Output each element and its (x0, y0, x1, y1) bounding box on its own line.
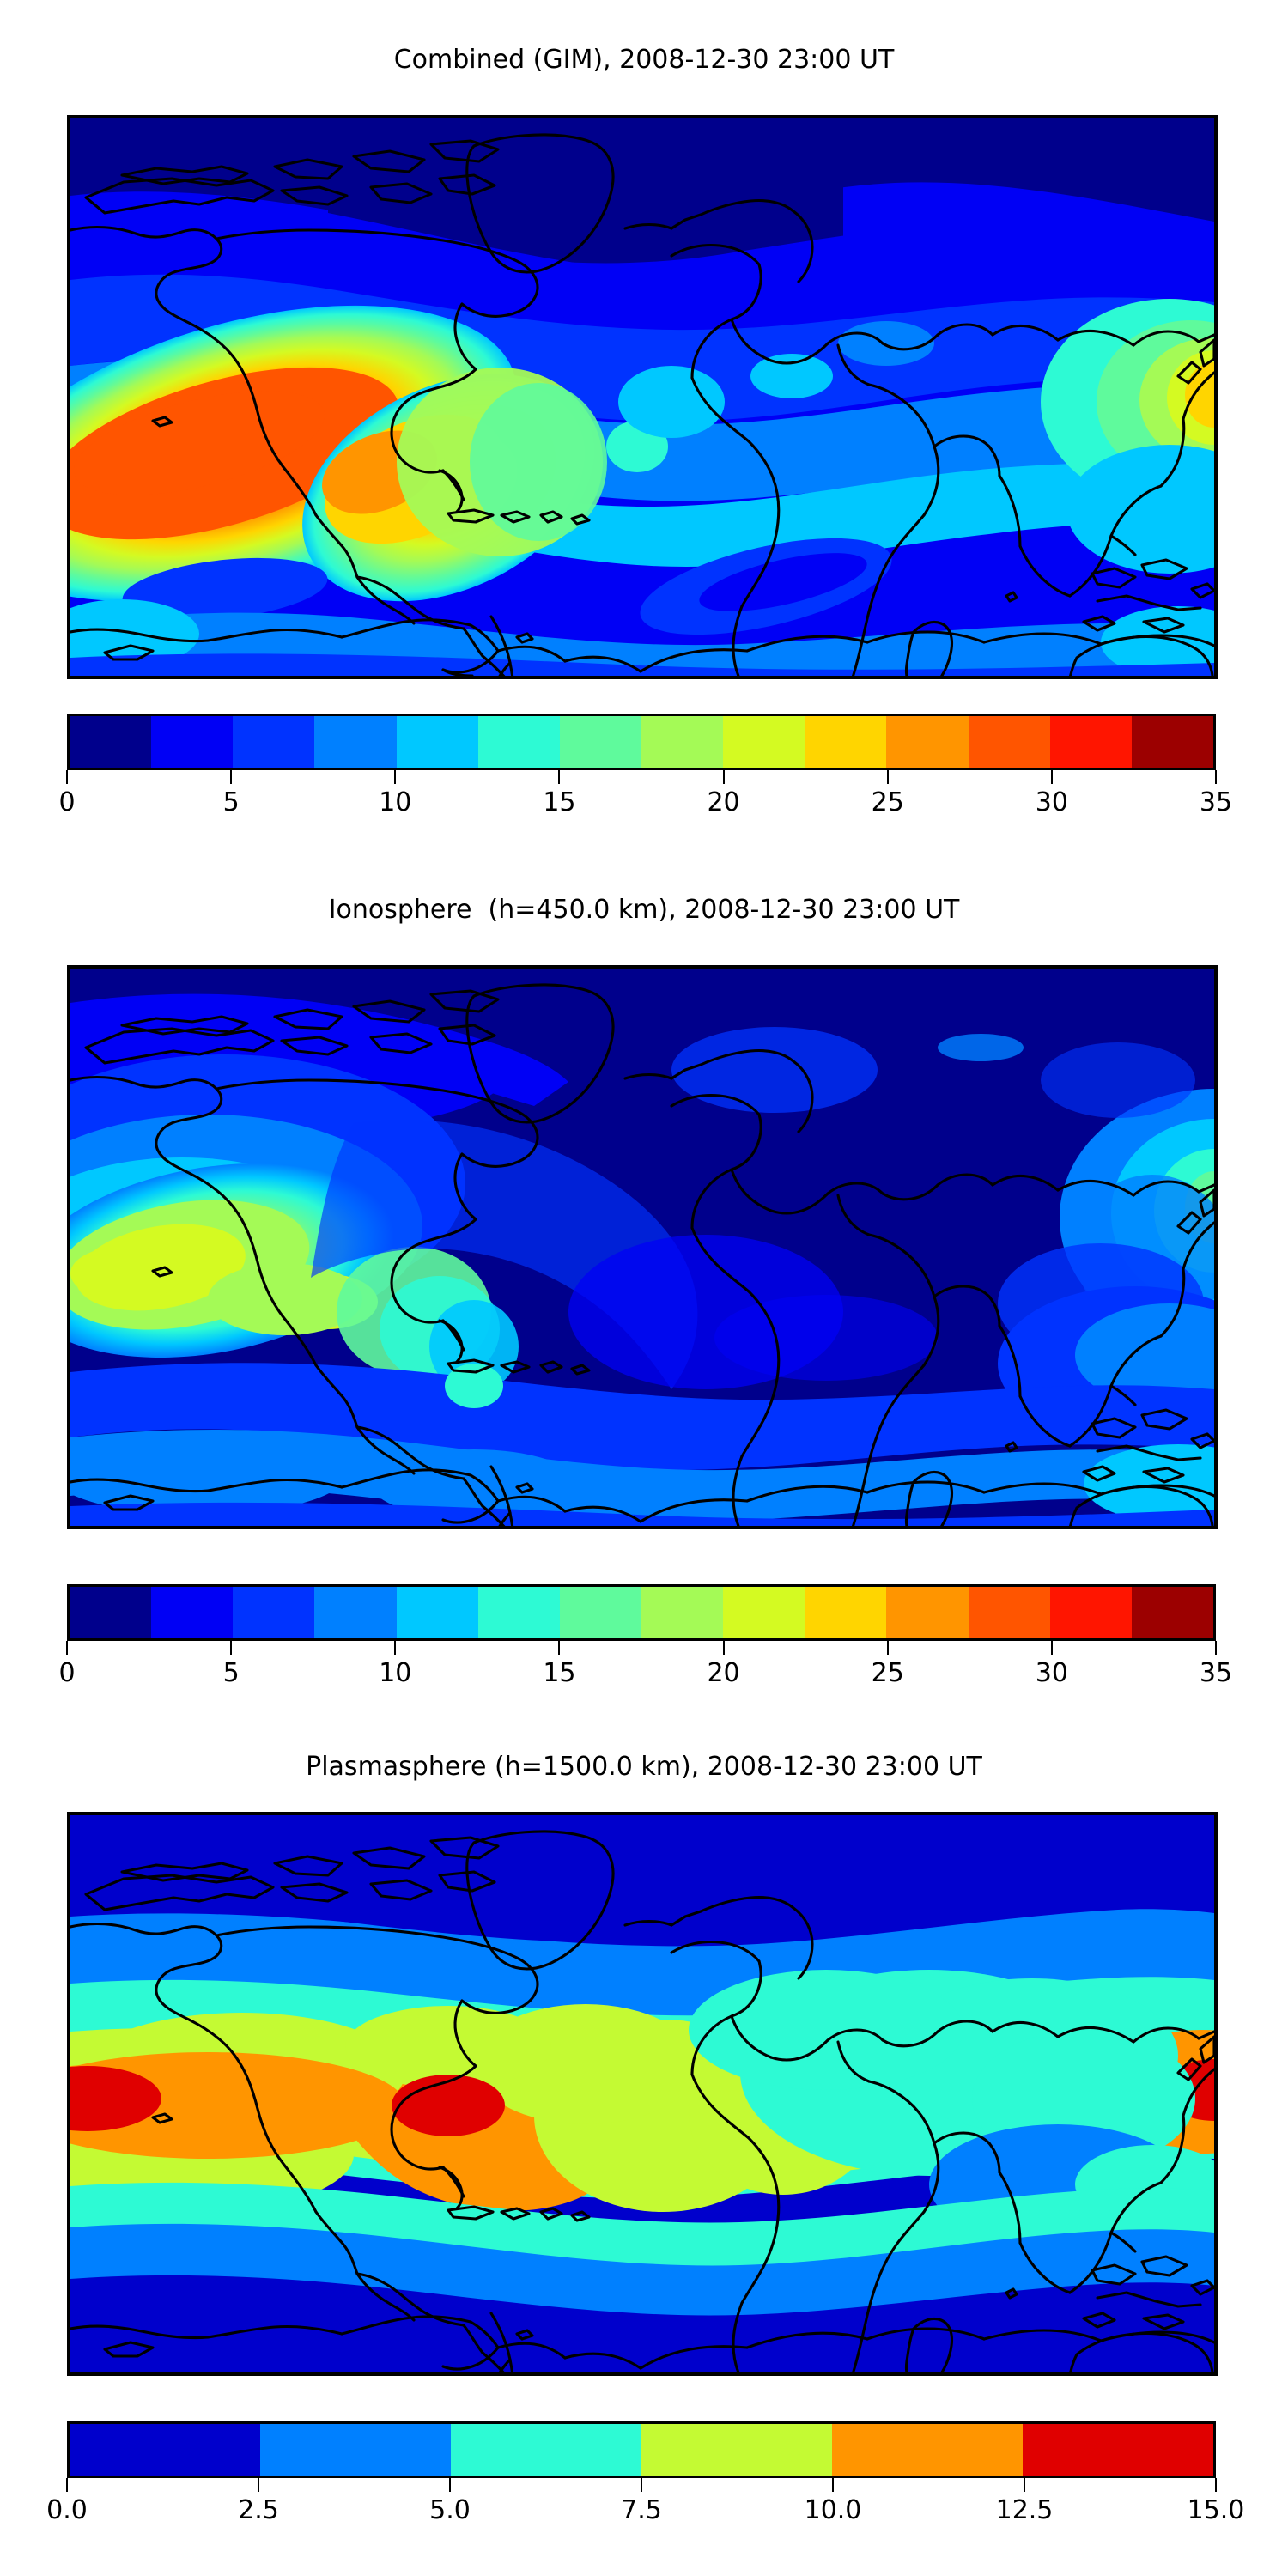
colorbar-band (151, 1587, 233, 1638)
colorbar-band (314, 1587, 396, 1638)
colorbar-axis-ionosphere: 05101520253035 (67, 1641, 1216, 1701)
map-svg-plasmasphere (70, 1815, 1214, 2372)
colorbar-tick (1051, 770, 1053, 784)
colorbar-tick (558, 770, 560, 784)
colorbar-band (560, 716, 641, 768)
colorbar-band (969, 716, 1050, 768)
colorbar-band (478, 716, 560, 768)
colorbar-tick-label: 12.5 (996, 2495, 1054, 2525)
colorbar-tick-label: 5 (223, 1658, 240, 1688)
colorbar-band (260, 2424, 451, 2476)
panel-ionosphere: Ionosphere (h=450.0 km), 2008-12-30 23:0… (0, 859, 1288, 1717)
colorbar-tick-label: 0 (58, 787, 75, 817)
map-svg-ionosphere (70, 969, 1214, 1526)
colorbar-band (805, 1587, 886, 1638)
colorbar-tick-label: 30 (1036, 1658, 1068, 1688)
colorbar-band (969, 1587, 1050, 1638)
colorbar-tick-label: 7.5 (621, 2495, 662, 2525)
colorbar-tick (887, 770, 889, 784)
colorbar-band (723, 716, 805, 768)
colorbar-tick-label: 30 (1036, 787, 1068, 817)
colorbar-tick-label: 20 (707, 787, 739, 817)
colorbar-tick-label: 2.5 (238, 2495, 279, 2525)
colorbar-band (886, 1587, 968, 1638)
colorbar-combined: 05101520253035 (67, 714, 1211, 834)
colorbar-band (886, 716, 968, 768)
colorbar-band (233, 716, 314, 768)
colorbar-tick-label: 35 (1200, 1658, 1232, 1688)
colorbar-tick (1024, 2478, 1025, 2492)
colorbar-tick (66, 2478, 68, 2492)
colorbar-tick-label: 5.0 (429, 2495, 471, 2525)
colorbar-band (151, 716, 233, 768)
colorbar-band (451, 2424, 641, 2476)
global-tec-map-plasmasphere (67, 1812, 1218, 2376)
colorbar-tick-label: 25 (872, 1658, 904, 1688)
figure-canvas: Combined (GIM), 2008-12-30 23:00 UT (0, 0, 1288, 2576)
colorbar-tick-label: 35 (1200, 787, 1232, 817)
colorbar-tick-label: 15.0 (1188, 2495, 1245, 2525)
colorbar-tick-label: 0.0 (46, 2495, 88, 2525)
panel-plasmasphere: Plasmasphere (h=1500.0 km), 2008-12-30 2… (0, 1717, 1288, 2576)
colorbar-band (1050, 716, 1132, 768)
colorbar-tick-label: 20 (707, 1658, 739, 1688)
colorbar-band (314, 716, 396, 768)
colorbar-band (723, 1587, 805, 1638)
panel-combined-gim: Combined (GIM), 2008-12-30 23:00 UT (0, 0, 1288, 859)
colorbar-plasmasphere: 0.02.55.07.510.012.515.0 (67, 2421, 1211, 2542)
colorbar-band (641, 716, 723, 768)
colorbar-tick (887, 1641, 889, 1655)
colorbar-gradient-ionosphere (67, 1584, 1216, 1641)
colorbar-tick-label: 10 (379, 1658, 411, 1688)
colorbar-axis-plasmasphere: 0.02.55.07.510.012.515.0 (67, 2478, 1216, 2538)
colorbar-band (233, 1587, 314, 1638)
colorbar-ionosphere: 05101520253035 (67, 1584, 1211, 1704)
colorbar-tick (230, 1641, 232, 1655)
map-svg-combined (70, 118, 1214, 676)
colorbar-band (397, 1587, 478, 1638)
colorbar-tick (1215, 1641, 1217, 1655)
colorbar-tick (394, 1641, 396, 1655)
colorbar-band (1023, 2424, 1213, 2476)
colorbar-band (70, 1587, 151, 1638)
colorbar-tick (558, 1641, 560, 1655)
colorbar-tick (832, 2478, 834, 2492)
colorbar-tick (449, 2478, 451, 2492)
colorbar-tick (723, 770, 725, 784)
colorbar-gradient-combined (67, 714, 1216, 770)
colorbar-tick-label: 5 (223, 787, 240, 817)
colorbar-band (805, 716, 886, 768)
colorbar-tick (1051, 1641, 1053, 1655)
contour-fill-ionosphere (70, 969, 1214, 1526)
colorbar-tick (230, 770, 232, 784)
global-tec-map-ionosphere (67, 965, 1218, 1529)
colorbar-tick-label: 15 (543, 1658, 575, 1688)
panel-title-plasmasphere: Plasmasphere (h=1500.0 km), 2008-12-30 2… (0, 1752, 1288, 1782)
colorbar-band (478, 1587, 560, 1638)
colorbar-tick (66, 1641, 68, 1655)
colorbar-band (832, 2424, 1023, 2476)
colorbar-band (70, 2424, 260, 2476)
colorbar-gradient-plasmasphere (67, 2421, 1216, 2478)
colorbar-band (560, 1587, 641, 1638)
colorbar-tick (641, 2478, 642, 2492)
panel-title-ionosphere: Ionosphere (h=450.0 km), 2008-12-30 23:0… (0, 895, 1288, 925)
contour-fill-combined (70, 118, 1214, 676)
colorbar-tick (394, 770, 396, 784)
colorbar-tick-label: 10.0 (805, 2495, 862, 2525)
colorbar-band (397, 716, 478, 768)
colorbar-tick (1215, 2478, 1217, 2492)
contour-fill-plasmasphere (70, 1815, 1214, 2372)
panel-title-combined: Combined (GIM), 2008-12-30 23:00 UT (0, 45, 1288, 75)
colorbar-tick-label: 10 (379, 787, 411, 817)
colorbar-band (1132, 716, 1213, 768)
colorbar-band (641, 2424, 832, 2476)
colorbar-band (1132, 1587, 1213, 1638)
colorbar-band (1050, 1587, 1132, 1638)
colorbar-tick (1215, 770, 1217, 784)
colorbar-band (641, 1587, 723, 1638)
global-tec-map-combined (67, 115, 1218, 679)
colorbar-tick-label: 15 (543, 787, 575, 817)
colorbar-axis-combined: 05101520253035 (67, 770, 1216, 830)
colorbar-tick (66, 770, 68, 784)
colorbar-band (70, 716, 151, 768)
colorbar-tick (258, 2478, 259, 2492)
colorbar-tick-label: 0 (58, 1658, 75, 1688)
colorbar-tick (723, 1641, 725, 1655)
colorbar-tick-label: 25 (872, 787, 904, 817)
